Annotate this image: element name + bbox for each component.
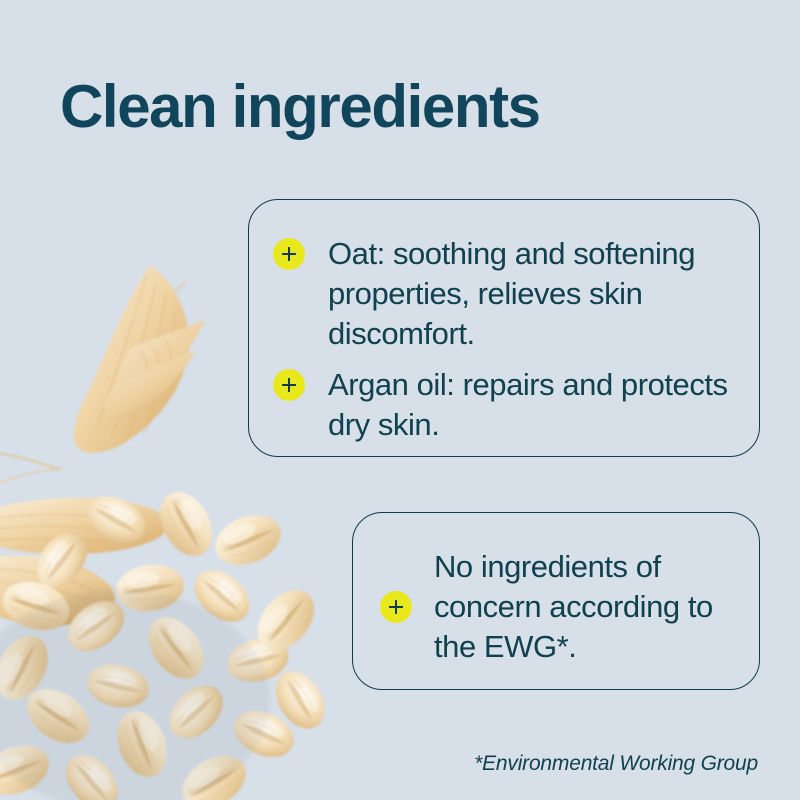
card-ewg: No ingredients of concern according to t… [352, 512, 760, 690]
plus-badge-icon [273, 238, 305, 270]
poster-canvas: Clean ingredients Oat: soothing and soft… [0, 0, 800, 800]
list-item-ewg: No ingredients of concern according to t… [380, 547, 750, 667]
list-item-text: No ingredients of concern according to t… [434, 547, 750, 667]
list-item-oat: Oat: soothing and softening properties, … [273, 234, 743, 354]
list-item-text: Argan oil: repairs and protects dry skin… [328, 365, 743, 445]
card-ingredients: Oat: soothing and softening properties, … [248, 199, 760, 457]
list-item-text: Oat: soothing and softening properties, … [328, 234, 743, 354]
page-title: Clean ingredients [60, 73, 540, 140]
list-item-argan-oil: Argan oil: repairs and protects dry skin… [273, 365, 743, 445]
footnote: *Environmental Working Group [474, 752, 758, 776]
plus-badge-icon [273, 369, 305, 401]
plus-badge-icon [380, 591, 412, 623]
